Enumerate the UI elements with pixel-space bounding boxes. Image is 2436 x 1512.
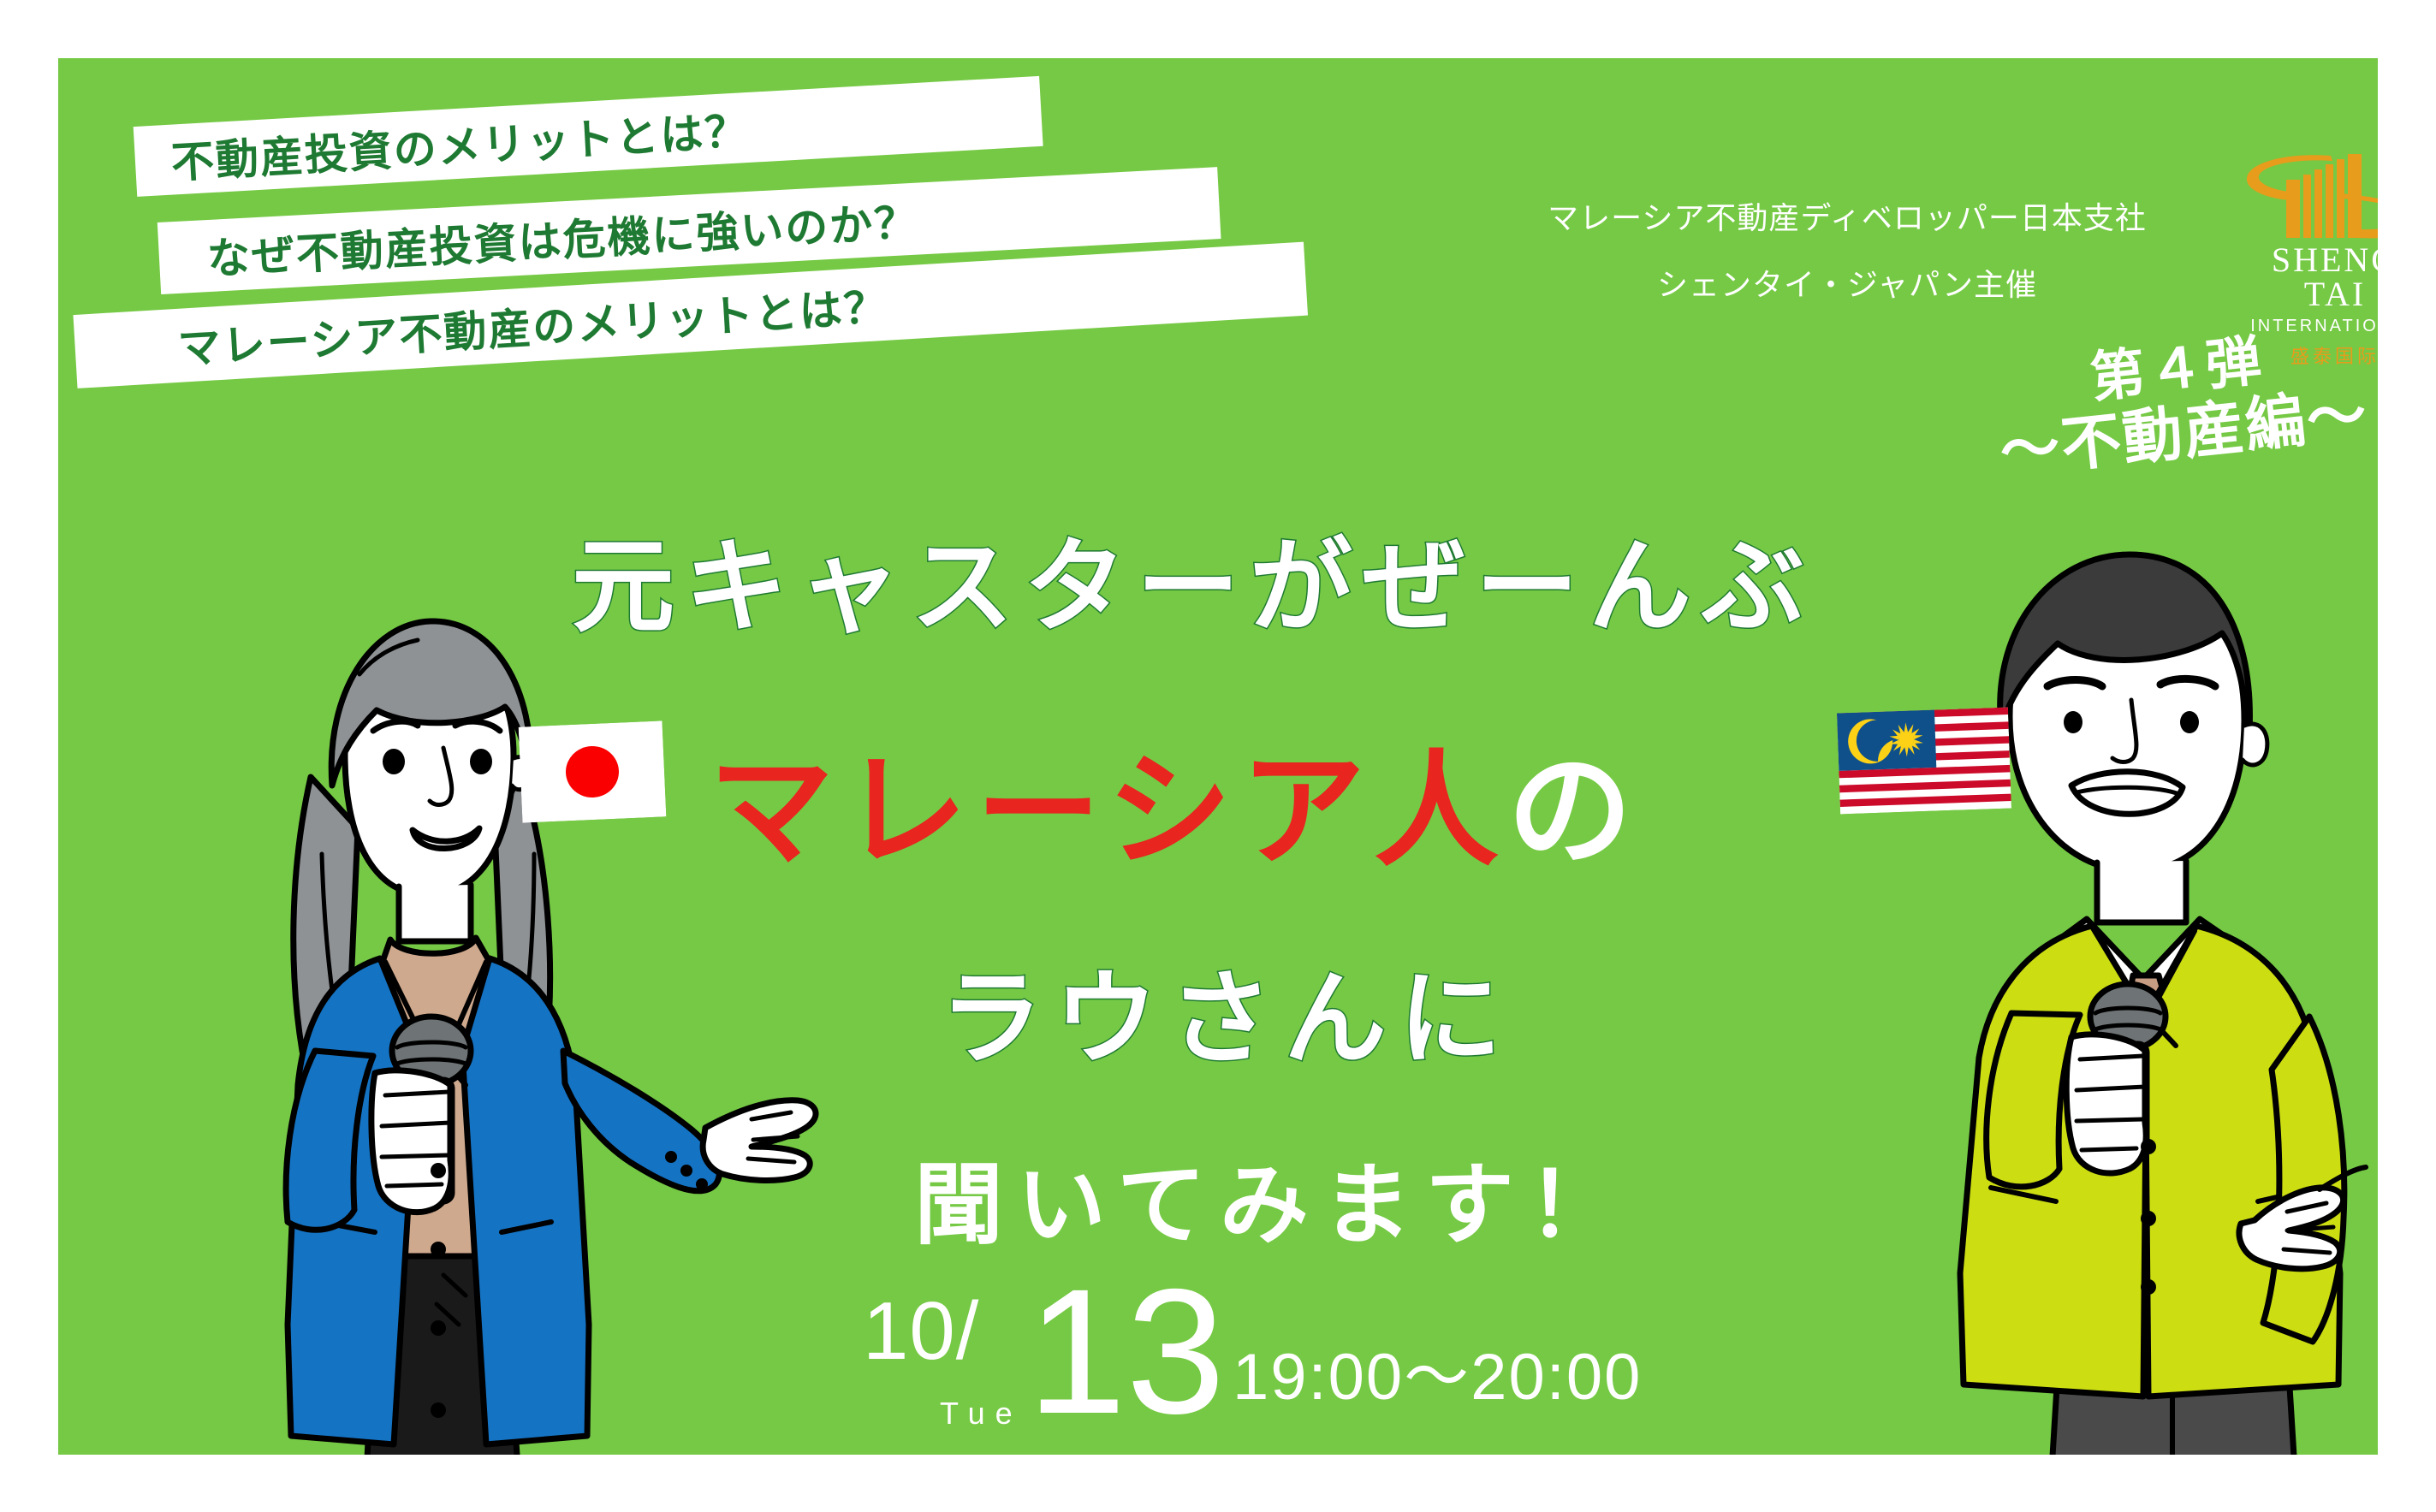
headline-line-2: マレーシア人の <box>709 710 1641 891</box>
organizer-text: マレーシア不動産ディベロッパー日本支社 シェンタイ・ジャパン主催 <box>1505 204 2189 301</box>
event-time: 19:00〜20:00 <box>1233 1345 1642 1410</box>
headline-line-2-red: マレーシア人 <box>709 738 1507 884</box>
event-venue: 会場：zoom ウェビナーでのオンライン開催 <box>863 1451 1805 1455</box>
female-presenter-illustration <box>161 572 863 1455</box>
sheng-tai-building-swoosh-icon <box>2237 140 2378 241</box>
event-month: 10/ <box>863 1290 979 1373</box>
malaysia-flag-icon <box>1837 708 2011 815</box>
headline-line-2-white: の <box>1507 738 1641 884</box>
event-weekday: Tue <box>940 1398 1023 1429</box>
logo-name-text: SHENG TAI <box>2237 243 2378 311</box>
headline-line-3: ラウさんに <box>940 935 1513 1084</box>
headline-line-1: 元キャスターがぜーんぶ <box>572 503 1815 652</box>
organizer-line-2: シェンタイ・ジャパン主催 <box>1505 270 2189 301</box>
headline-line-4: 聞いてみます！ <box>914 1132 1631 1261</box>
male-presenter-illustration <box>1881 503 2378 1455</box>
poster-green-panel: 不動産投資のメリットとは？ なぜ不動産投資は危機に強いのか？ マレーシア不動産の… <box>58 58 2378 1455</box>
question-strip-3-text: マレーシア不動産のメリットとは？ <box>176 273 890 377</box>
japan-flag-icon <box>519 720 667 822</box>
question-strip-1: 不動産投資のメリットとは？ <box>134 76 1043 197</box>
organizer-line-1: マレーシア不動産ディベロッパー日本支社 <box>1505 204 2189 234</box>
question-strip-1-text: 不動産投資のメリットとは？ <box>169 97 751 191</box>
episode-badge: 第４弾 〜不動産編〜 <box>1902 312 2378 495</box>
poster-canvas: 不動産投資のメリットとは？ なぜ不動産投資は危機に強いのか？ マレーシア不動産の… <box>0 0 2436 1512</box>
event-day: 13 <box>1027 1263 1225 1441</box>
